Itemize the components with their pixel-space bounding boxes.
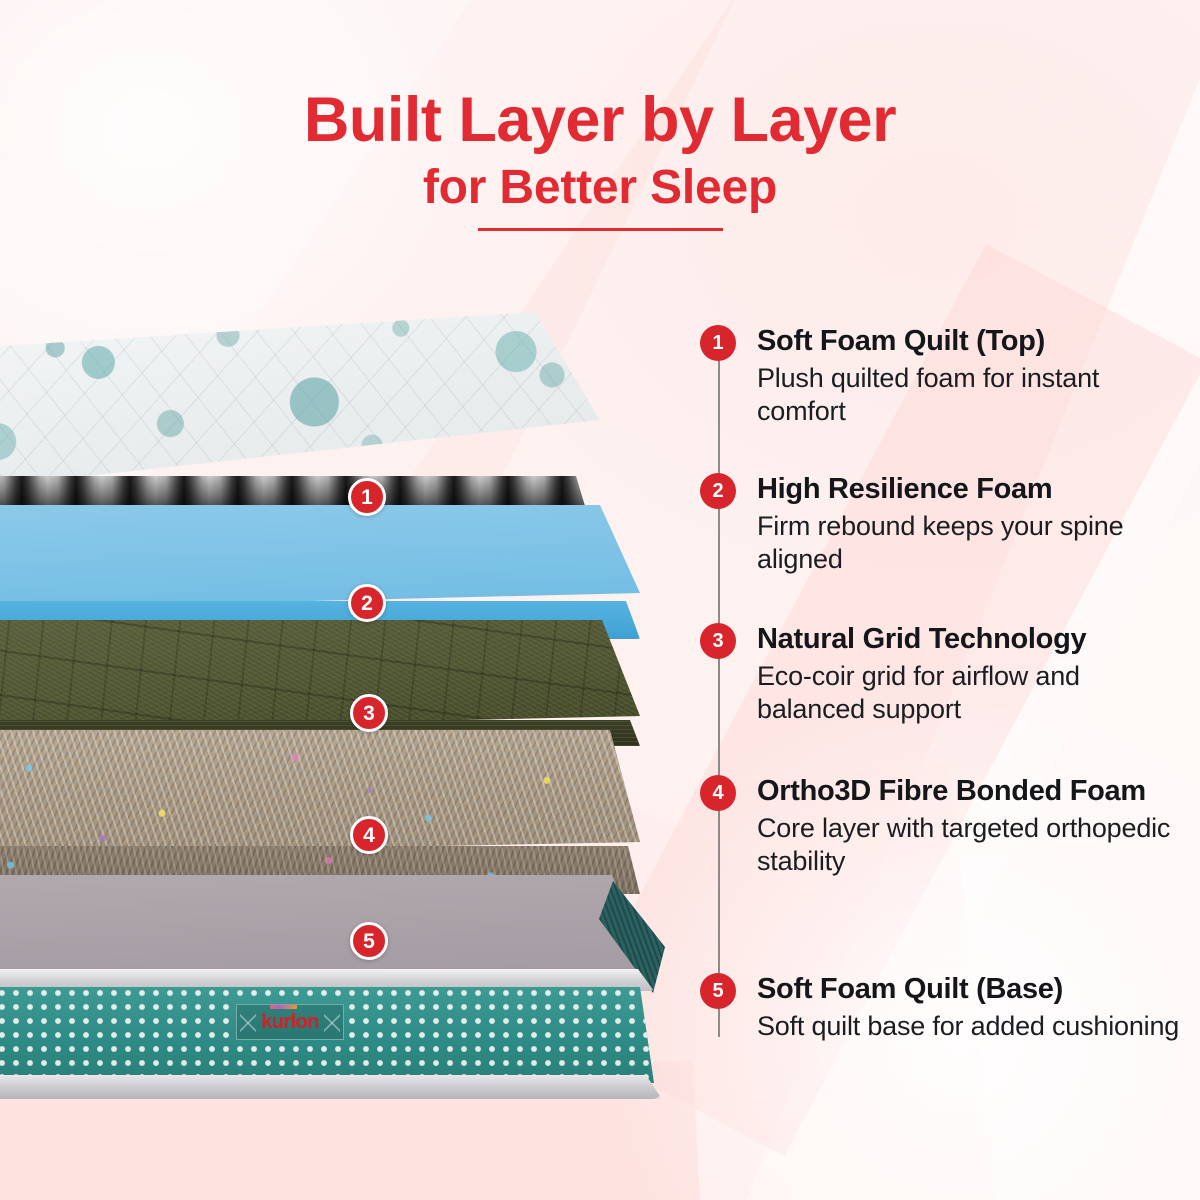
- legend-description: Core layer with targeted orthopedic stab…: [757, 812, 1182, 879]
- legend-text-block: High Resilience Foam Firm rebound keeps …: [757, 473, 1182, 577]
- legend-item-soft-foam-quilt-base[interactable]: 5 Soft Foam Quilt (Base) Soft quilt base…: [700, 973, 1182, 1043]
- legend-item-ortho3d-fibre-bonded-foam[interactable]: 4 Ortho3D Fibre Bonded Foam Core layer w…: [700, 775, 1182, 879]
- mattress-layer-soft-foam-quilt-base: [0, 875, 700, 1105]
- legend-text-block: Natural Grid Technology Eco-coir grid fo…: [757, 623, 1182, 727]
- legend-badge-5: 5: [700, 973, 736, 1009]
- legend-badge-2: 2: [700, 473, 736, 509]
- legend-description: Firm rebound keeps your spine aligned: [757, 510, 1182, 577]
- mattress-badge-4[interactable]: 4: [350, 816, 388, 854]
- legend-title: Soft Foam Quilt (Top): [757, 325, 1182, 358]
- kurlon-wordmark: kurlon: [261, 1012, 319, 1032]
- mattress-badge-3[interactable]: 3: [350, 694, 388, 732]
- mattress-badge-5[interactable]: 5: [350, 922, 388, 960]
- legend-title: Soft Foam Quilt (Base): [757, 973, 1182, 1006]
- legend-title: High Resilience Foam: [757, 473, 1182, 506]
- legend-title: Ortho3D Fibre Bonded Foam: [757, 775, 1182, 808]
- legend-description: Eco-coir grid for airflow and balanced s…: [757, 660, 1182, 727]
- legend-description: Plush quilted foam for instant comfort: [757, 362, 1182, 429]
- infographic-canvas: Built Layer by Layer for Better Sleep: [0, 0, 1200, 1200]
- base-top-face: [0, 875, 700, 983]
- legend-text-block: Soft Foam Quilt (Base) Soft quilt base f…: [757, 973, 1182, 1043]
- hr-foam-top-face: [0, 505, 680, 610]
- mattress-layer-ortho3d-fibre-bonded-foam: [0, 730, 680, 895]
- mattress-layer-soft-foam-quilt-top: [0, 312, 660, 520]
- legend-description: Soft quilt base for added cushioning: [757, 1010, 1182, 1043]
- bonded-fibre-top-face: [0, 730, 680, 856]
- legend-badge-3: 3: [700, 623, 736, 659]
- mattress-badge-1[interactable]: 1: [348, 478, 386, 516]
- kurlon-brand-label: kurlon: [236, 1004, 344, 1040]
- mattress-badge-2[interactable]: 2: [348, 584, 386, 622]
- coir-top-face: [0, 620, 680, 732]
- legend-text-block: Ortho3D Fibre Bonded Foam Core layer wit…: [757, 775, 1182, 879]
- legend-item-soft-foam-quilt-top[interactable]: 1 Soft Foam Quilt (Top) Plush quilted fo…: [700, 325, 1182, 429]
- mattress-exploded-illustration: kurlon 1 2 3 4 5: [0, 0, 700, 1200]
- legend-badge-4: 4: [700, 775, 736, 811]
- legend-item-high-resilience-foam[interactable]: 2 High Resilience Foam Firm rebound keep…: [700, 473, 1182, 577]
- legend-item-natural-grid-technology[interactable]: 3 Natural Grid Technology Eco-coir grid …: [700, 623, 1182, 727]
- legend-title: Natural Grid Technology: [757, 623, 1182, 656]
- legend-text-block: Soft Foam Quilt (Top) Plush quilted foam…: [757, 325, 1182, 429]
- base-piping-bottom: [0, 1075, 662, 1099]
- legend-badge-1: 1: [700, 325, 736, 361]
- quilt-floral-pattern: [0, 312, 660, 492]
